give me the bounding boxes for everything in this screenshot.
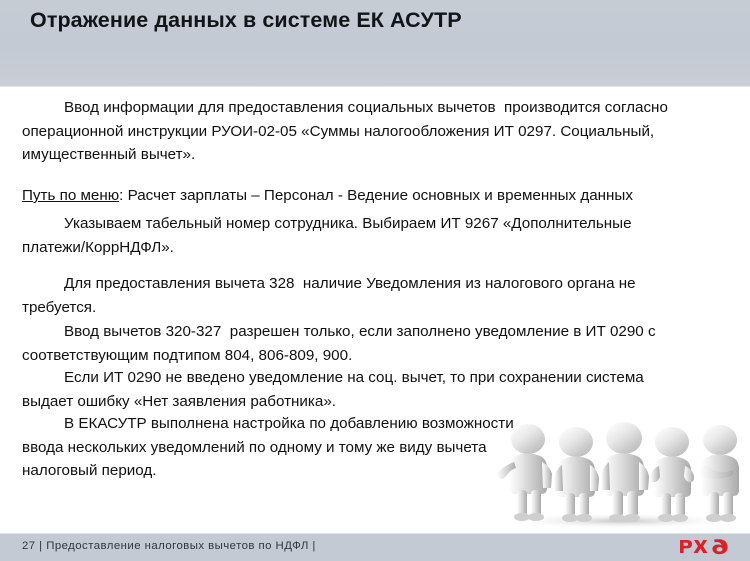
paragraph-deduction-328: Для предоставления вычета 328 наличие Ув… xyxy=(22,272,690,319)
menu-path-value: : Расчет зарплаты – Персонал - Ведение о… xyxy=(119,187,633,204)
rzd-logo-icon xyxy=(676,534,732,558)
paragraph-error-message: Если ИТ 0290 не введено уведомление на с… xyxy=(22,366,690,413)
person-figure-4 xyxy=(650,427,694,522)
paragraph-ekasutr-setting: В ЕКАСУТР выполнена настройка по добавле… xyxy=(22,412,522,483)
paragraph-intro: Ввод информации для предоставления социа… xyxy=(22,96,690,167)
person-figure-5 xyxy=(701,425,740,522)
slide-footer-band: 27 | Предоставление налоговых вычетов по… xyxy=(0,533,750,561)
page-title: Отражение данных в системе ЕК АСУТР xyxy=(30,8,462,33)
person-figure-2 xyxy=(554,427,599,522)
menu-path-label: Путь по меню xyxy=(22,187,119,204)
slide-header-band: Отражение данных в системе ЕК АСУТР xyxy=(0,0,750,87)
person-figure-1 xyxy=(497,424,552,521)
paragraph-employee-number: Указываем табельный номер сотрудника. Вы… xyxy=(22,212,690,259)
person-figure-3 xyxy=(601,422,649,522)
slide-canvas: Отражение данных в системе ЕК АСУТР Ввод… xyxy=(0,0,750,561)
group-of-people-illustration xyxy=(492,418,750,530)
paragraph-deductions-320-327: Ввод вычетов 320-327 разрешен только, ес… xyxy=(22,320,690,367)
footer-caption: 27 | Предоставление налоговых вычетов по… xyxy=(22,540,316,552)
paragraph-menu-path: Путь по меню: Расчет зарплаты – Персонал… xyxy=(22,184,690,208)
